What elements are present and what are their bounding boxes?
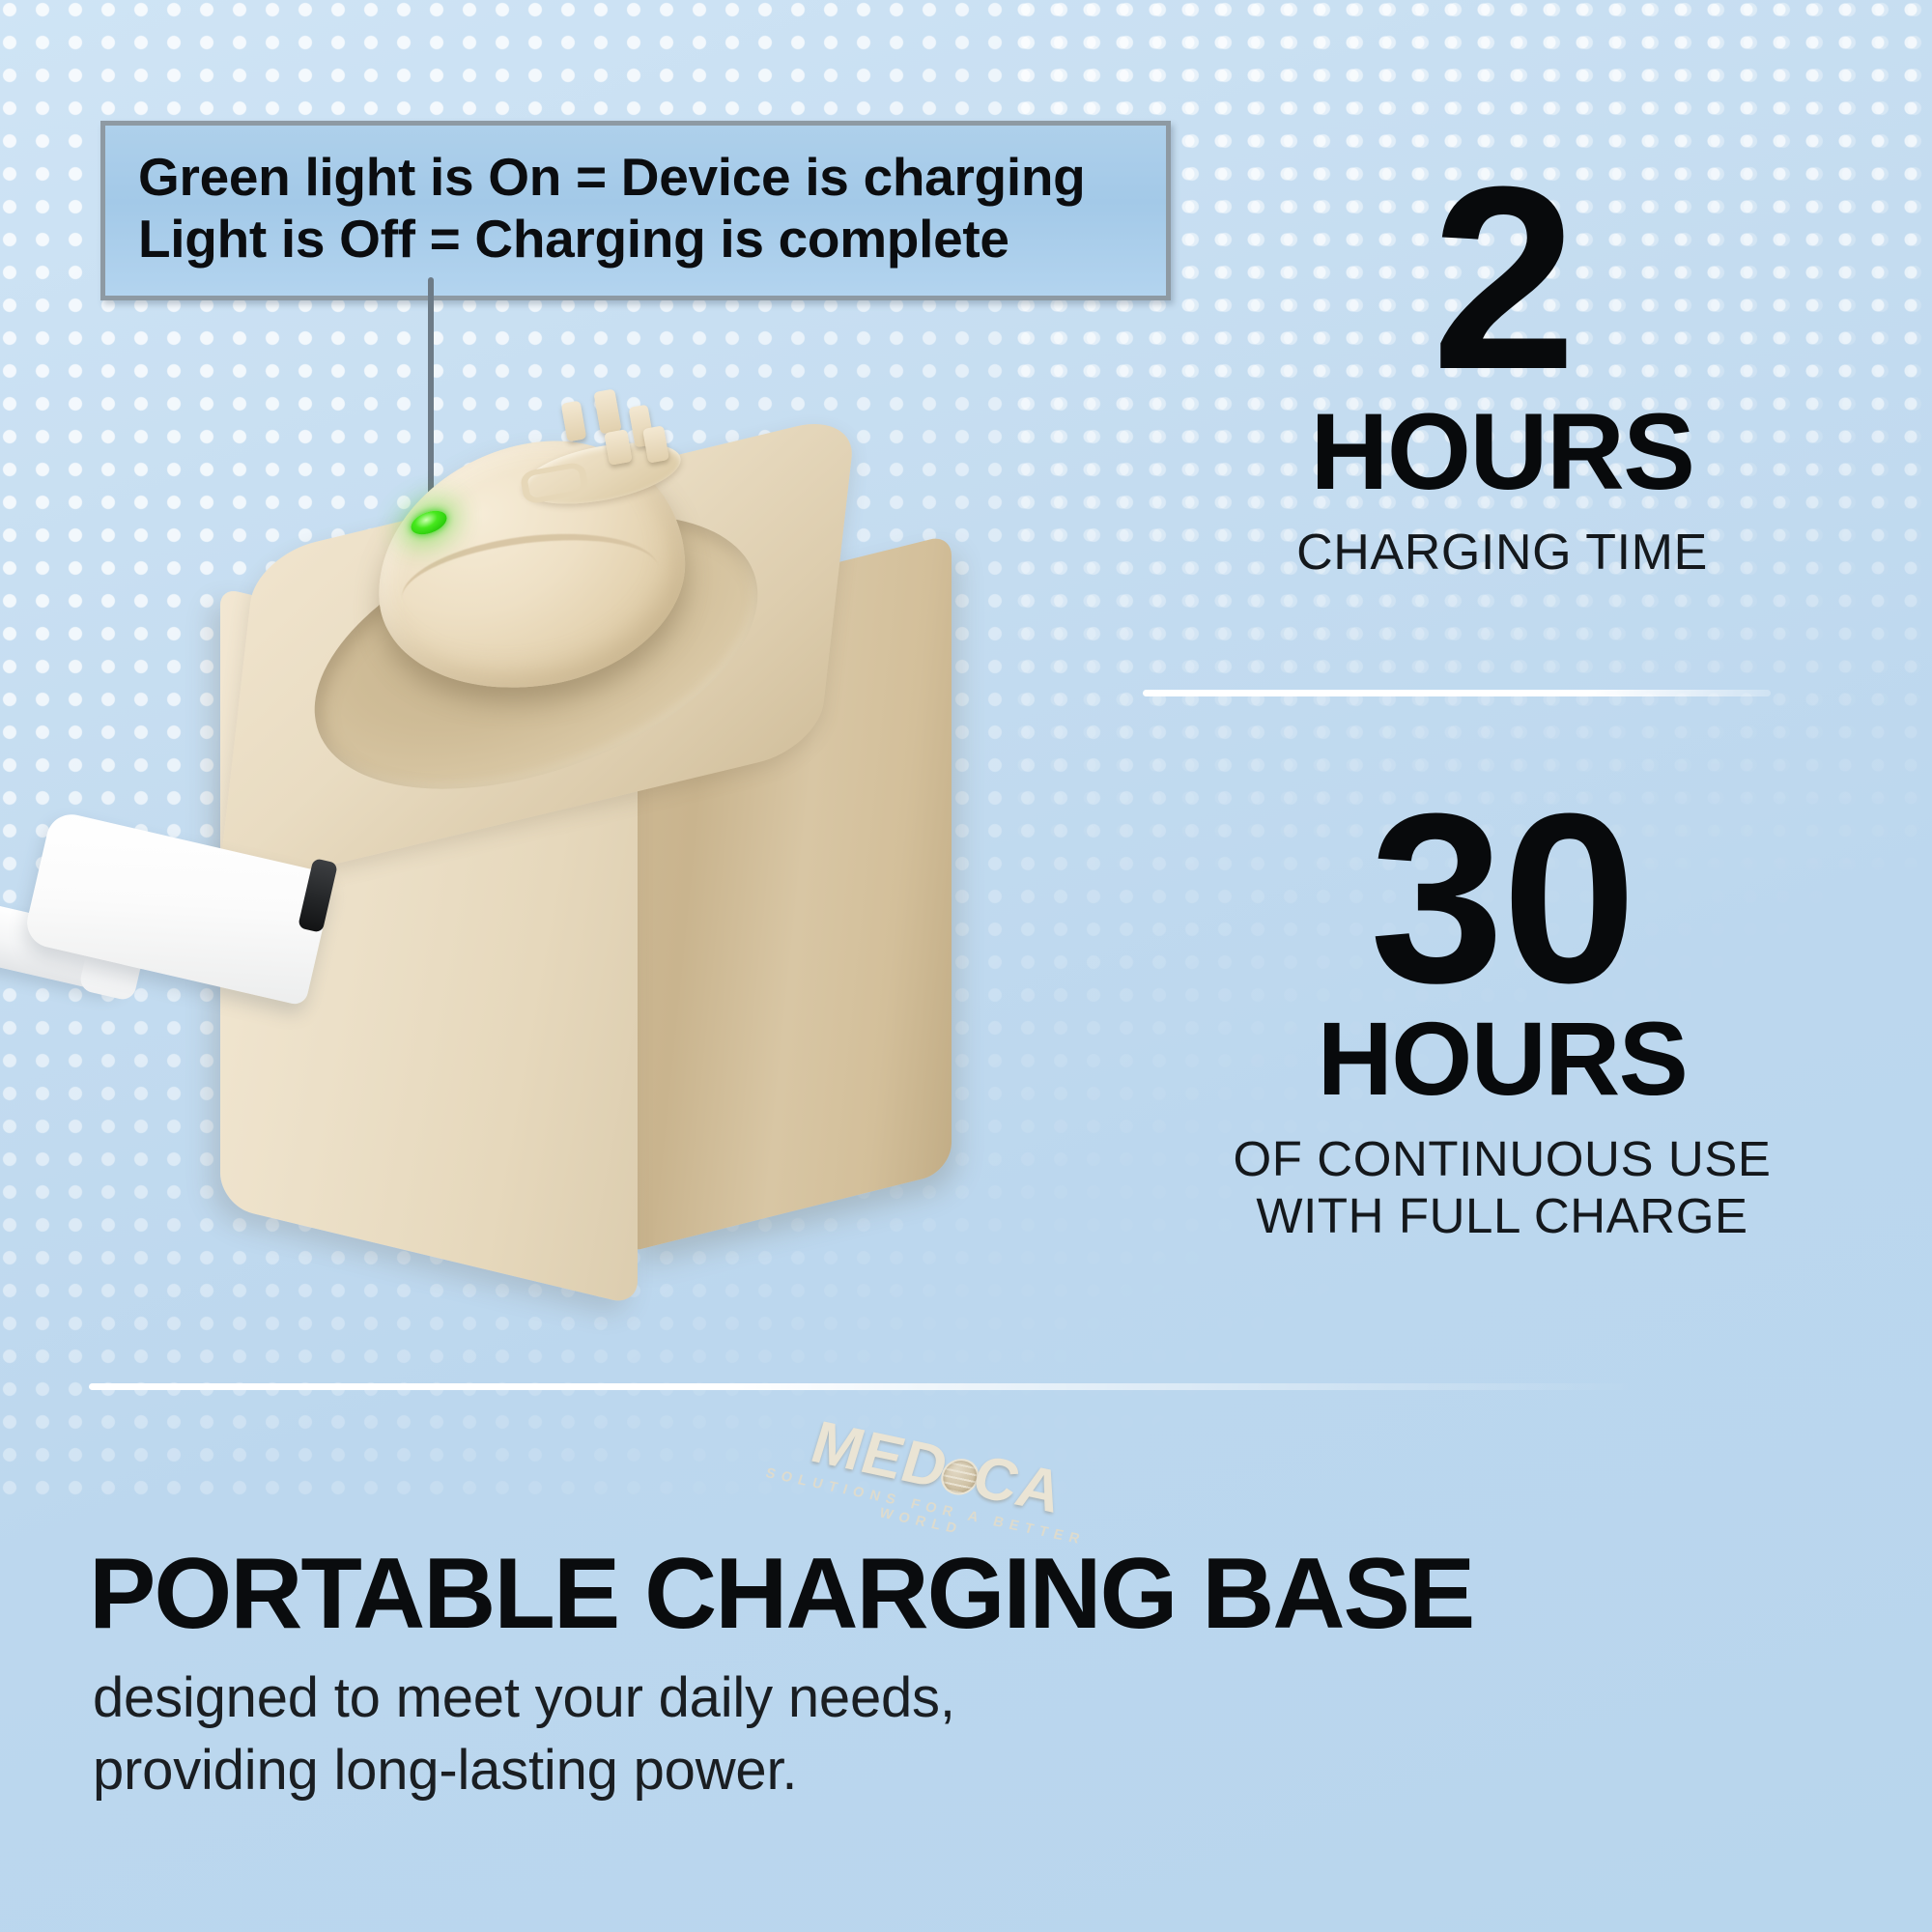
stat-description-charging-time: CHARGING TIME xyxy=(1121,524,1884,582)
stat-number-hours-to-charge: 2 xyxy=(1121,164,1884,394)
stat-unit-hours: HOURS xyxy=(1121,398,1884,506)
status-callout-box: Green light is On = Device is charging L… xyxy=(100,121,1171,300)
callout-line-charging: Green light is On = Device is charging xyxy=(138,147,1137,209)
page-title: PORTABLE CHARGING BASE xyxy=(89,1544,1473,1644)
stat-unit-hours: HOURS xyxy=(1121,1007,1884,1111)
stat-description-line-1: OF CONTINUOUS USE xyxy=(1121,1130,1884,1187)
stat-block-charging-time: 2 HOURS CHARGING TIME xyxy=(1121,164,1884,582)
footer-subcopy-line-2: providing long-lasting power. xyxy=(93,1734,955,1806)
stat-number-hours-of-use: 30 xyxy=(1121,792,1884,1005)
hearing-aid-pin xyxy=(561,401,587,442)
stat-block-usage-time: 30 HOURS OF CONTINUOUS USE WITH FULL CHA… xyxy=(1121,792,1884,1244)
footer-divider xyxy=(89,1383,1634,1390)
hearing-aid-pin xyxy=(604,429,633,466)
stats-divider xyxy=(1143,690,1771,696)
callout-line-complete: Light is Off = Charging is complete xyxy=(138,209,1137,270)
infographic-canvas: Green light is On = Device is charging L… xyxy=(0,0,1932,1932)
stat-description-usage: OF CONTINUOUS USE WITH FULL CHARGE xyxy=(1121,1130,1884,1244)
hearing-aid-pin xyxy=(593,388,621,434)
charging-base-illustration: MEDCA SOLUTIONS FOR A BETTER WORLD xyxy=(0,348,1140,1372)
footer-subcopy: designed to meet your daily needs, provi… xyxy=(93,1662,955,1807)
stat-description-line-2: WITH FULL CHARGE xyxy=(1121,1187,1884,1244)
footer-subcopy-line-1: designed to meet your daily needs, xyxy=(93,1662,955,1734)
